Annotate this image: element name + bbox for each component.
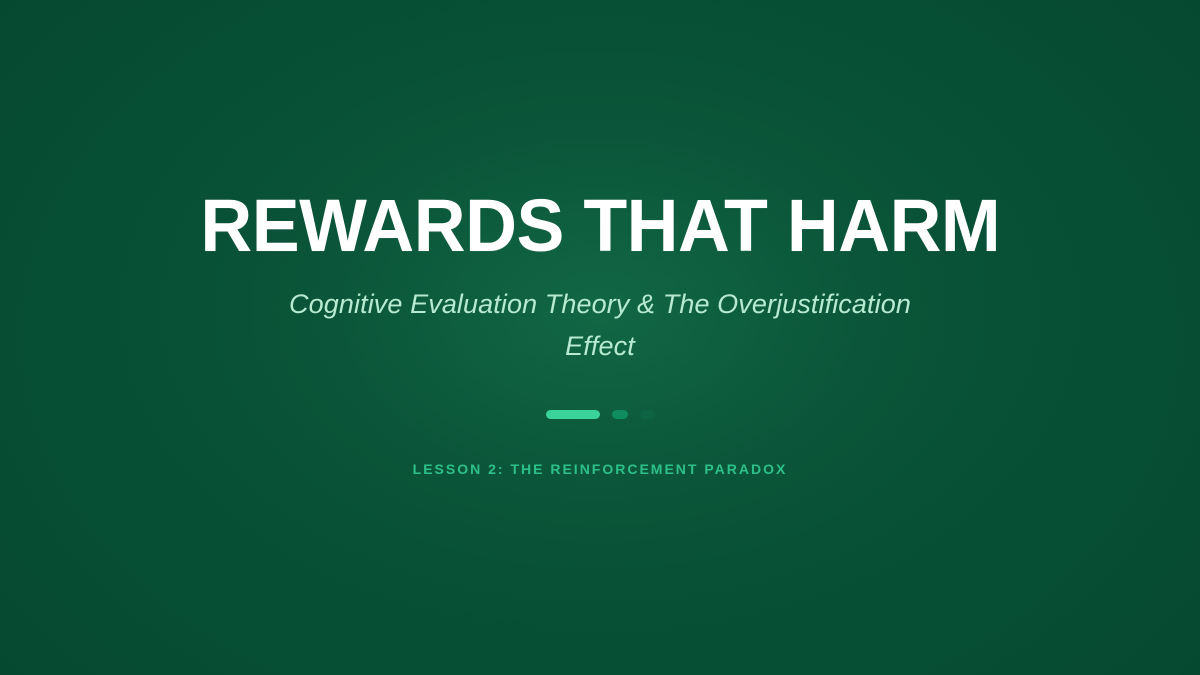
progress-dots[interactable] <box>546 367 655 419</box>
slide-subtitle: Cognitive Evaluation Theory & The Overju… <box>280 261 920 367</box>
progress-dot-2[interactable] <box>612 410 628 419</box>
progress-dot-3[interactable] <box>640 410 655 419</box>
progress-dot-1-active[interactable] <box>546 410 600 419</box>
title-slide: Rewards That Harm Cognitive Evaluation T… <box>0 0 1200 675</box>
slide-content: Rewards That Harm Cognitive Evaluation T… <box>0 0 1200 675</box>
page-title: Rewards That Harm <box>200 190 1000 261</box>
lesson-label: Lesson 2: The Reinforcement Paradox <box>413 419 788 477</box>
